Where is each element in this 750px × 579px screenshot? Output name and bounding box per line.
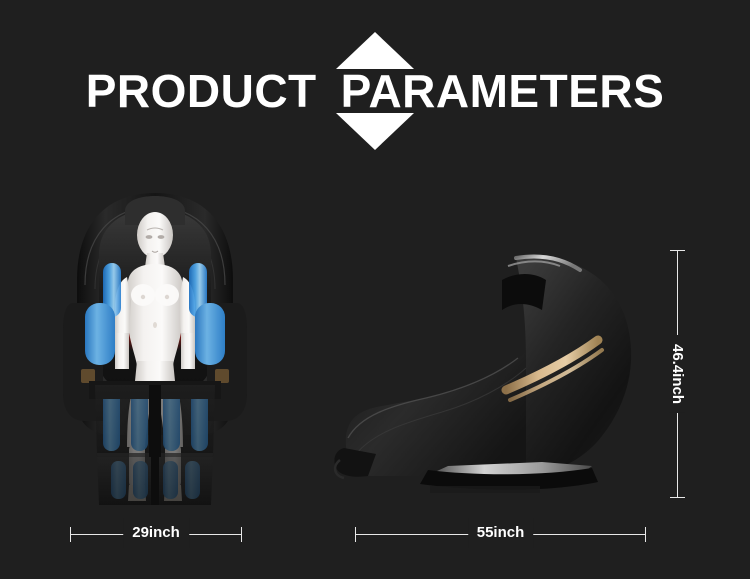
dimension-cap-bottom <box>670 497 685 498</box>
dimension-cap-right <box>241 527 242 542</box>
dimension-label-55inch: 55inch <box>468 518 534 548</box>
dimension-label-29inch: 29inch <box>123 518 189 548</box>
dimension-cap-left <box>355 527 356 542</box>
left-forearm-airbag <box>85 303 115 365</box>
foot-divider <box>151 453 159 505</box>
base-vents <box>430 486 540 493</box>
right-forearm-airbag <box>195 303 225 365</box>
triangle-up-icon <box>336 32 414 69</box>
page-title: PRODUCTPARAMETERS <box>0 68 750 114</box>
front-view-graphic <box>55 185 255 510</box>
leg-divider <box>149 385 161 457</box>
massage-chair-side-view <box>330 240 660 515</box>
side-view-graphic <box>330 240 660 515</box>
page-title-word-left: PRODUCT <box>86 65 317 117</box>
dimension-width-side: 55inch <box>355 526 646 542</box>
dimension-cap-left <box>70 527 71 542</box>
triangle-down-icon <box>336 113 414 150</box>
dimension-label-46-4inch: 46.4inch <box>669 335 685 413</box>
dimension-cap-top <box>670 250 685 251</box>
product-parameters-banner: PRODUCTPARAMETERS <box>0 0 750 579</box>
left-armrest-accent <box>81 369 95 383</box>
dimension-width-front: 29inch <box>70 526 242 542</box>
dimension-cap-right <box>645 527 646 542</box>
right-armrest-accent <box>215 369 229 383</box>
massage-chair-front-view <box>55 185 255 510</box>
page-title-word-right: PARAMETERS <box>341 65 665 117</box>
page-title-block: PRODUCTPARAMETERS <box>0 28 750 152</box>
dimension-height-side: 46.4inch <box>669 250 685 498</box>
